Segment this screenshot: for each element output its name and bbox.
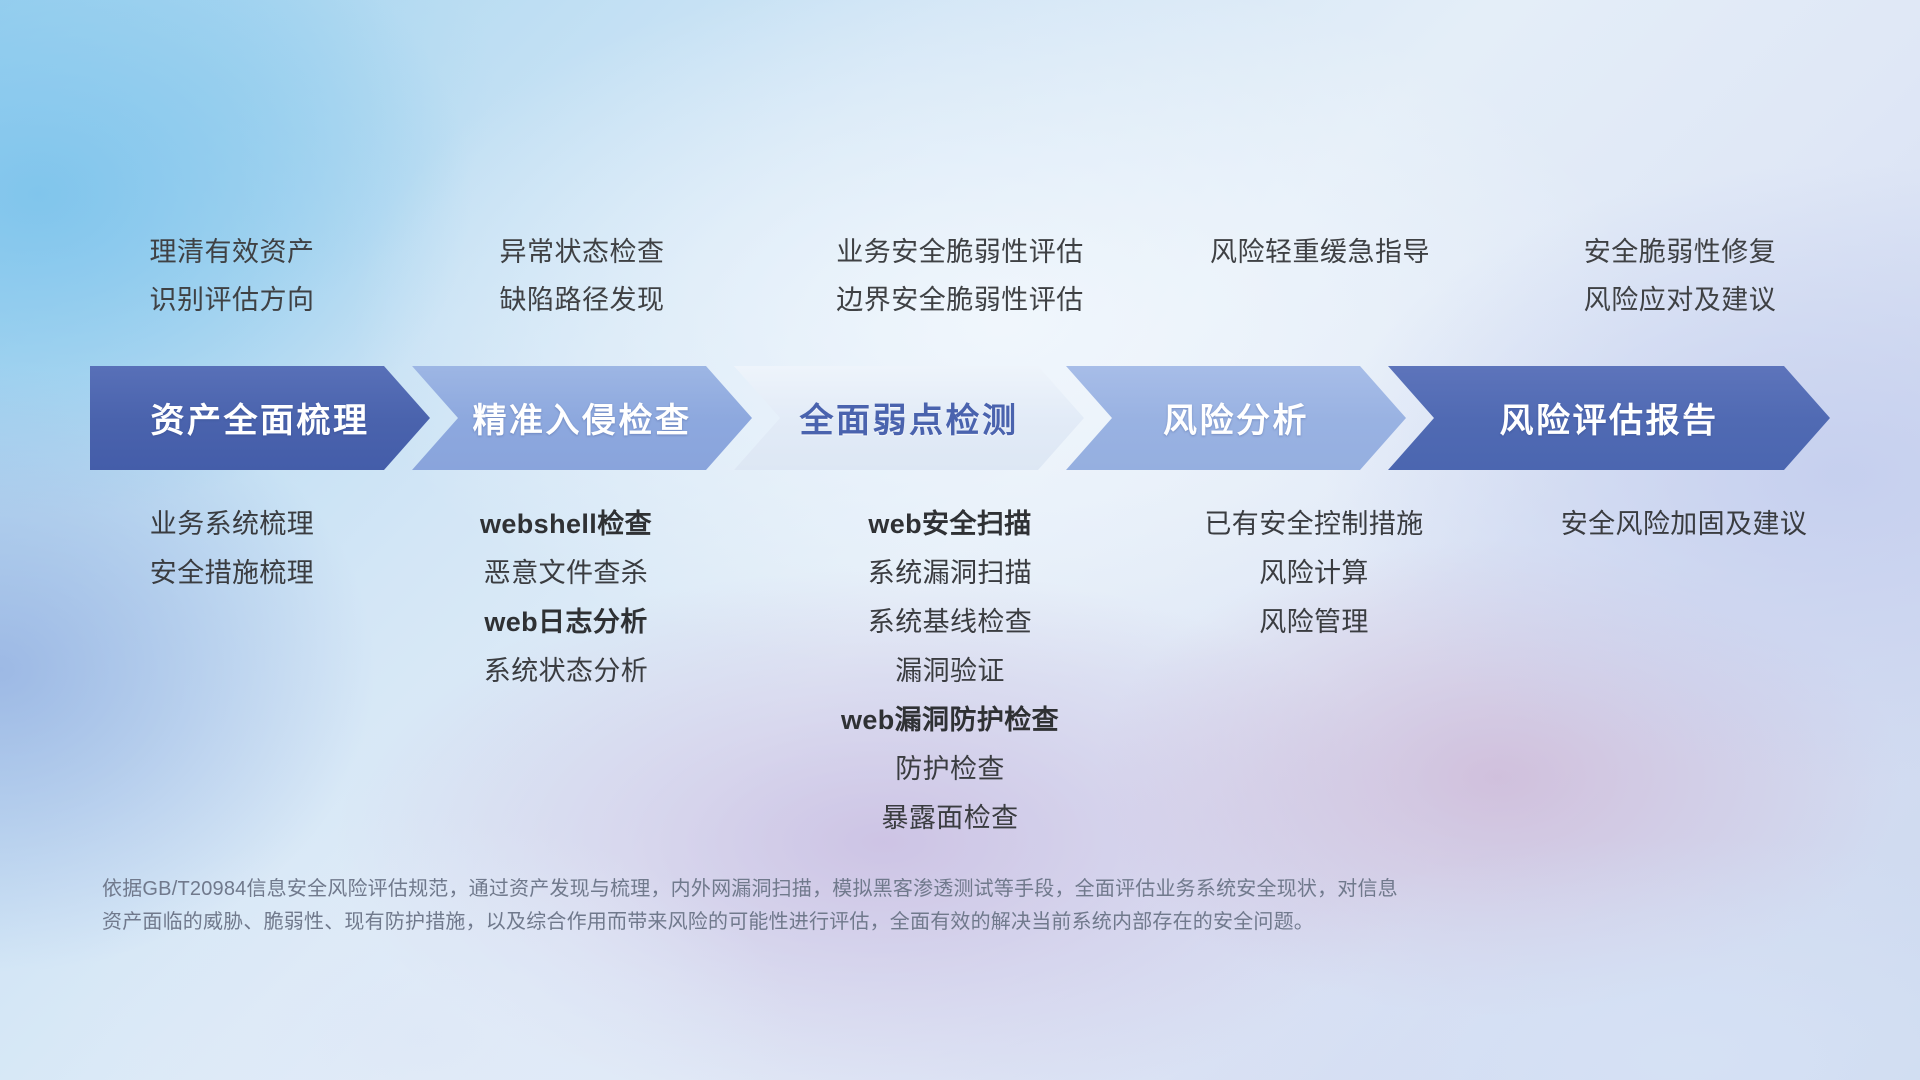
bottom-label: 暴露面检查 [710, 794, 1190, 843]
stage-title: 风险分析 [1163, 393, 1309, 442]
bottom-label: 漏洞验证 [710, 647, 1190, 696]
bottom-label: 风险管理 [1104, 598, 1524, 647]
top-label: 异常状态检查 [372, 228, 792, 276]
top-labels-risk-analysis: 风险轻重缓急指导 [1110, 228, 1530, 276]
stage-chevron-asset-inventory[interactable]: 资产全面梳理 [90, 366, 430, 470]
top-label: 缺陷路径发现 [372, 276, 792, 324]
footer-line-2: 资产面临的威胁、脆弱性、现有防护措施，以及综合作用而带来风险的可能性进行评估，全… [102, 906, 1662, 939]
top-label: 风险应对及建议 [1470, 276, 1890, 324]
stage-title: 风险评估报告 [1500, 393, 1719, 442]
footer-line-1: 依据GB/T20984信息安全风险评估规范，通过资产发现与梳理，内外网漏洞扫描，… [102, 873, 1662, 906]
bottom-labels-assessment-report: 安全风险加固及建议 [1454, 500, 1914, 549]
top-labels-intrusion-check: 异常状态检查 缺陷路径发现 [372, 228, 792, 324]
stage-chevron-intrusion-check[interactable]: 精准入侵检查 [412, 366, 752, 470]
top-labels-assessment-report: 安全脆弱性修复 风险应对及建议 [1470, 228, 1890, 324]
stage-chevron-risk-analysis[interactable]: 风险分析 [1066, 366, 1406, 470]
top-label: 边界安全脆弱性评估 [730, 276, 1190, 324]
footer-description: 依据GB/T20984信息安全风险评估规范，通过资产发现与梳理，内外网漏洞扫描，… [102, 873, 1662, 939]
top-label: 安全脆弱性修复 [1470, 228, 1890, 276]
top-label: 风险轻重缓急指导 [1110, 228, 1530, 276]
bottom-label: 安全风险加固及建议 [1454, 500, 1914, 549]
stage-chevron-weakness-detection[interactable]: 全面弱点检测 [734, 366, 1084, 470]
bottom-label: 防护检查 [710, 745, 1190, 794]
bottom-label: 风险计算 [1104, 549, 1524, 598]
bottom-label: web漏洞防护检查 [710, 696, 1190, 745]
stage-title: 资产全面梳理 [151, 393, 370, 442]
top-label-row: 理清有效资产 识别评估方向 异常状态检查 缺陷路径发现 业务安全脆弱性评估 边界… [0, 228, 1920, 338]
process-diagram: 理清有效资产 识别评估方向 异常状态检查 缺陷路径发现 业务安全脆弱性评估 边界… [0, 0, 1920, 1080]
stage-chevron-assessment-report[interactable]: 风险评估报告 [1388, 366, 1830, 470]
stage-chevron-band: 资产全面梳理 精准入侵检查 全面弱点检测 风险分析 风险评估报告 [0, 366, 1920, 470]
stage-title: 全面弱点检测 [800, 393, 1019, 442]
stage-title: 精准入侵检查 [473, 393, 692, 442]
